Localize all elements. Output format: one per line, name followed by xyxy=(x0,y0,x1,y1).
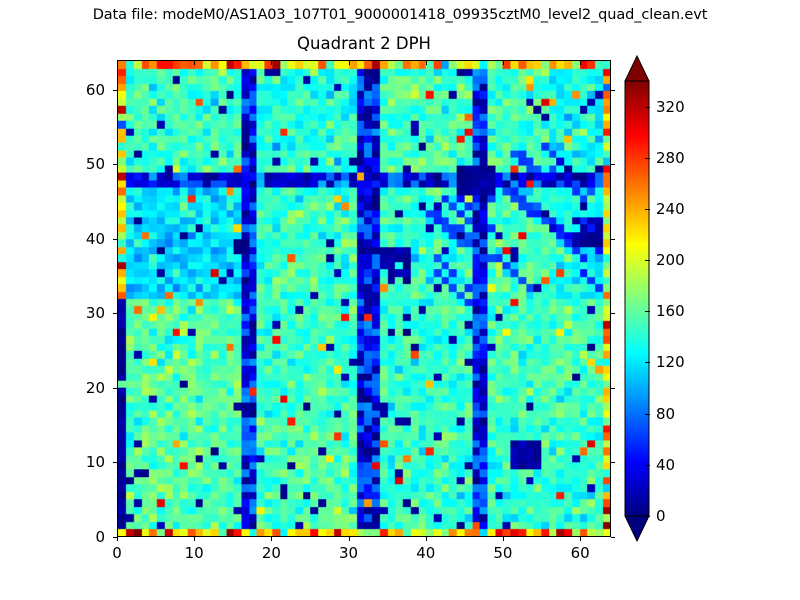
x-tick-label: 60 xyxy=(550,544,610,562)
colorbar-tick-mark xyxy=(645,158,650,159)
x-tick-mark-top xyxy=(426,61,427,65)
colorbar-tick-mark xyxy=(645,311,650,312)
y-tick-mark xyxy=(113,388,117,389)
x-tick-mark xyxy=(580,537,581,541)
colorbar[interactable]: 04080120160200240280320 xyxy=(624,55,650,542)
colorbar-tick-label: 200 xyxy=(656,251,685,269)
colorbar-gradient xyxy=(624,55,650,542)
colorbar-tick-mark xyxy=(645,107,650,108)
colorbar-tick-label: 80 xyxy=(656,405,675,423)
y-tick-mark xyxy=(113,90,117,91)
colorbar-tick-label: 40 xyxy=(656,456,675,474)
colorbar-tick-label: 280 xyxy=(656,149,685,167)
colorbar-tick-mark xyxy=(645,209,650,210)
y-tick-mark xyxy=(113,239,117,240)
x-tick-mark-top xyxy=(117,61,118,65)
y-tick-label: 60 xyxy=(45,81,105,99)
y-tick-mark-right xyxy=(611,239,615,240)
y-tick-mark-right xyxy=(611,164,615,165)
figure-suptitle: Data file: modeM0/AS1A03_107T01_90000014… xyxy=(0,7,800,23)
axes-title: Quadrant 2 DPH xyxy=(117,34,611,53)
colorbar-tick-label: 160 xyxy=(656,302,685,320)
x-tick-label: 30 xyxy=(319,544,379,562)
x-tick-mark xyxy=(117,537,118,541)
colorbar-tick-label: 320 xyxy=(656,98,685,116)
y-tick-mark-right xyxy=(611,388,615,389)
x-tick-mark xyxy=(503,537,504,541)
y-tick-mark xyxy=(113,313,117,314)
colorbar-tick-label: 0 xyxy=(656,507,666,525)
x-tick-label: 50 xyxy=(473,544,533,562)
y-tick-mark xyxy=(113,164,117,165)
x-tick-label: 0 xyxy=(87,544,147,562)
y-tick-label: 10 xyxy=(45,453,105,471)
x-tick-mark-top xyxy=(194,61,195,65)
colorbar-tick-label: 120 xyxy=(656,353,685,371)
x-tick-label: 20 xyxy=(241,544,301,562)
colorbar-tick-mark xyxy=(645,516,650,517)
x-tick-mark-top xyxy=(503,61,504,65)
x-tick-mark-top xyxy=(271,61,272,65)
y-tick-label: 0 xyxy=(45,528,105,546)
y-tick-mark-right xyxy=(611,537,615,538)
figure-canvas: Data file: modeM0/AS1A03_107T01_90000014… xyxy=(0,0,800,600)
y-tick-label: 50 xyxy=(45,155,105,173)
heatmap-image[interactable] xyxy=(118,61,610,536)
y-tick-mark-right xyxy=(611,90,615,91)
y-tick-label: 20 xyxy=(45,379,105,397)
colorbar-tick-mark xyxy=(645,465,650,466)
x-tick-mark-top xyxy=(580,61,581,65)
x-tick-mark xyxy=(349,537,350,541)
x-tick-label: 40 xyxy=(396,544,456,562)
x-tick-mark xyxy=(271,537,272,541)
y-tick-mark-right xyxy=(611,313,615,314)
x-tick-mark-top xyxy=(349,61,350,65)
y-tick-label: 40 xyxy=(45,230,105,248)
x-tick-label: 10 xyxy=(164,544,224,562)
heatmap-axes[interactable] xyxy=(117,60,611,537)
colorbar-tick-mark xyxy=(645,362,650,363)
colorbar-tick-mark xyxy=(645,414,650,415)
colorbar-tick-label: 240 xyxy=(656,200,685,218)
x-tick-mark xyxy=(426,537,427,541)
y-tick-mark xyxy=(113,537,117,538)
colorbar-tick-mark xyxy=(645,260,650,261)
y-tick-label: 30 xyxy=(45,304,105,322)
y-tick-mark-right xyxy=(611,462,615,463)
y-tick-mark xyxy=(113,462,117,463)
x-tick-mark xyxy=(194,537,195,541)
